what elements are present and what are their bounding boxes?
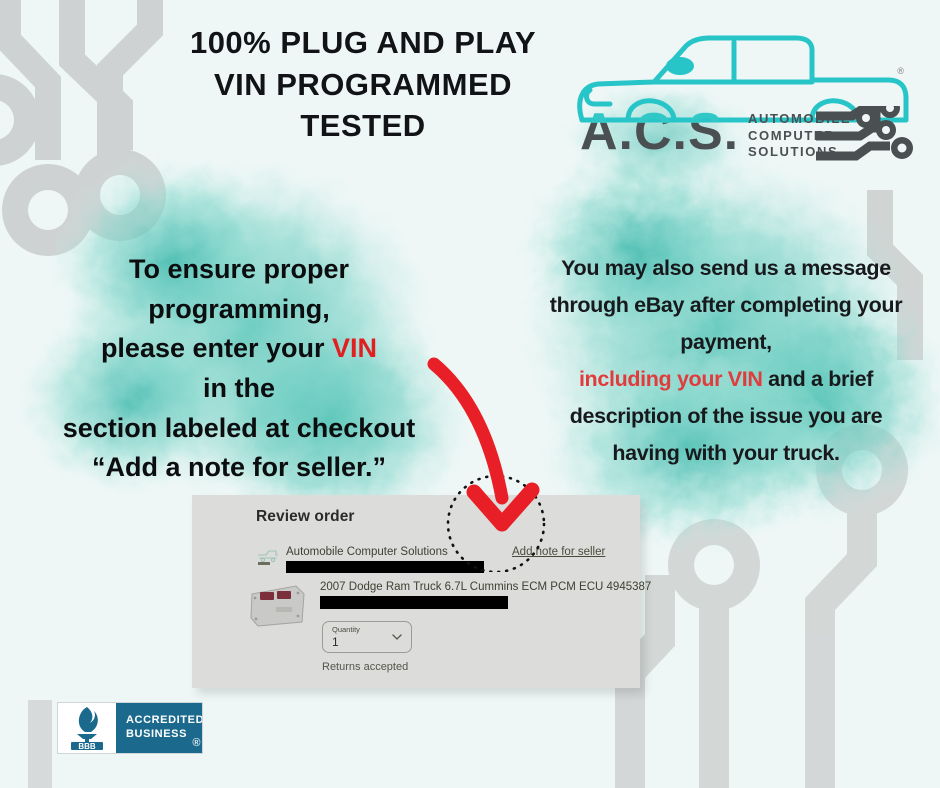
seller-name: Automobile Computer Solutions [286,546,448,558]
returns-accepted-text: Returns accepted [322,661,408,673]
right-line-4-rest: and a brief [763,367,874,391]
left-line-4: in the [24,369,454,409]
item-title: 2007 Dodge Ram Truck 6.7L Cummins ECM PC… [320,581,651,593]
seller-logo-thumbnail-icon [256,543,280,567]
left-line-2: programming, [24,290,454,330]
vin-emphasis-right: including your VIN [579,367,763,391]
logo-brand-abbrev: A.C.S. [580,106,739,158]
right-line-4: including your VIN and a brief [534,361,918,398]
circuit-traces-right-bottom [630,424,908,788]
left-line-1: To ensure proper [24,250,454,290]
vin-emphasis: VIN [332,333,377,363]
right-line-1: You may also send us a message [534,250,918,287]
redaction-bar-seller [286,561,484,573]
left-line-3-text: please enter your [101,333,332,363]
quantity-value: 1 [332,635,339,649]
circuit-trace-icon [816,106,920,168]
left-line-6: “Add a note for seller.” [24,448,454,488]
instructions-right: You may also send us a message through e… [534,250,918,472]
bbb-logo-area: BBB [58,703,116,753]
right-line-3: payment, [534,324,918,361]
chevron-down-icon [392,632,402,642]
bbb-text-area: ACCREDITED BUSINESS ® [116,703,203,753]
company-logo: ® A.C.S. AUTOMOBILE COMPUTER SOLUTIONS [568,28,918,168]
bbb-torch-icon: BBB [58,703,116,751]
review-order-heading: Review order [256,508,355,526]
left-line-5: section labeled at checkout [24,409,454,449]
right-line-6: having with your truck. [534,435,918,472]
add-note-for-seller-link[interactable]: Add note for seller [512,546,605,558]
bbb-accredited-business-badge: BBB ACCREDITED BUSINESS ® [57,702,203,754]
bbb-line-1: ACCREDITED [126,714,203,728]
instructions-left: To ensure proper programming, please ent… [24,250,454,488]
headline-line-2: VIN PROGRAMMED [118,64,608,106]
promotional-poster: 100% PLUG AND PLAY VIN PROGRAMMED TESTED… [0,0,940,788]
quantity-stepper[interactable]: Quantity 1 [322,621,412,653]
quantity-label: Quantity [332,625,360,634]
headline: 100% PLUG AND PLAY VIN PROGRAMMED TESTED [118,22,608,147]
headline-line-3: TESTED [118,105,608,147]
left-line-3: please enter your VIN [24,329,454,369]
right-line-5: description of the issue you are [534,398,918,435]
checkout-screenshot-panel: Review order Automobile Computer Solutio… [192,495,640,688]
svg-text:BBB: BBB [78,742,96,751]
seller-row: Automobile Computer Solutions Add note f… [256,543,636,569]
headline-line-1: 100% PLUG AND PLAY [118,22,608,64]
ecm-module-thumbnail-icon [248,580,306,630]
registered-trademark-mark: ® [897,66,904,76]
right-line-2: through eBay after completing your [534,287,918,324]
bbb-registered-mark: ® [192,737,201,751]
redaction-bar-price [320,596,508,609]
